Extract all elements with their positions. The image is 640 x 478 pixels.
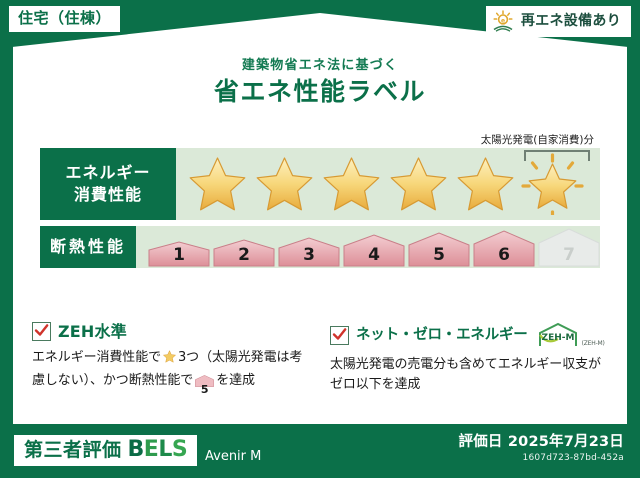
bels-certification-plate: 第三者評価 BELS bbox=[14, 435, 197, 466]
energy-performance-row: エネルギー 消費性能 bbox=[40, 148, 600, 220]
zeh-m-logo-text: ZEH-M bbox=[541, 333, 574, 343]
grade-number: 6 bbox=[473, 247, 535, 264]
insulation-grades-panel: 1 2 3 bbox=[136, 226, 600, 268]
grade-number: 3 bbox=[278, 247, 340, 264]
grade-badge-1: 1 bbox=[148, 241, 210, 267]
solar-sun-icon: e bbox=[492, 10, 516, 32]
house-type-tag: 住宅（住棟） bbox=[9, 6, 120, 32]
grade-badge-7-inactive: 7 bbox=[538, 228, 600, 267]
criterion-zeh-header: ZEH水準 bbox=[32, 322, 314, 341]
renewable-badge-label: 再エネ設備あり bbox=[521, 14, 621, 28]
checkbox-checked-icon bbox=[330, 326, 349, 345]
building-name: Avenir M bbox=[205, 450, 261, 463]
evaluation-date: 評価日 2025年7月23日 bbox=[459, 435, 624, 451]
criteria-section: ZEH水準 エネルギー消費性能で3つ（太陽光発電は考慮しない）、かつ断熱性能で5… bbox=[32, 322, 612, 395]
svg-text:e: e bbox=[501, 17, 505, 24]
energy-performance-label: エネルギー 消費性能 bbox=[40, 148, 176, 220]
solar-annotation-label: 太陽光発電(自家消費)分 bbox=[481, 135, 594, 146]
grade-number: 7 bbox=[538, 247, 600, 264]
grade-number: 5 bbox=[408, 247, 470, 264]
renewable-equipment-badge: e 再エネ設備あり bbox=[486, 6, 631, 37]
grade-badge-6: 6 bbox=[473, 230, 535, 267]
grade-number-inline: 5 bbox=[195, 384, 214, 395]
insulation-performance-label: 断熱性能 bbox=[40, 226, 136, 268]
insulation-performance-row: 断熱性能 1 bbox=[40, 226, 600, 268]
grade-badge-4: 4 bbox=[343, 234, 405, 267]
star-icon bbox=[385, 153, 452, 215]
star-rating bbox=[176, 153, 586, 215]
grade-badge-3: 3 bbox=[278, 237, 340, 267]
criterion-nze-title: ネット・ゼロ・エネルギー bbox=[356, 328, 528, 343]
energy-label-line1: エネルギー bbox=[65, 162, 150, 184]
star-icon bbox=[452, 153, 519, 215]
energy-label-line2: 消費性能 bbox=[74, 184, 142, 206]
label-title-block: 建築物省エネ法に基づく 省エネ性能ラベル bbox=[0, 58, 640, 106]
solar-annotation-bracket bbox=[524, 150, 590, 161]
star-icon bbox=[318, 153, 385, 215]
criterion-zeh-title: ZEH水準 bbox=[58, 324, 127, 340]
grade-number: 4 bbox=[343, 247, 405, 264]
evaluation-info: 評価日 2025年7月23日 1607d723-87bd-452a bbox=[459, 435, 624, 464]
evaluation-id: 1607d723-87bd-452a bbox=[459, 454, 624, 464]
criterion-nze-header: ネット・ゼロ・エネルギー ZEH-M (ZEH-M) bbox=[330, 322, 612, 348]
checkbox-checked-icon bbox=[32, 322, 51, 341]
title-main: 省エネ性能ラベル bbox=[0, 78, 640, 107]
star-icon bbox=[184, 153, 251, 215]
energy-performance-label: 住宅（住棟） e 再エネ設備あり 建築物省エネ法に基づく 省エネ性能ラベル bbox=[0, 0, 640, 478]
grade-badge-5: 5 bbox=[408, 232, 470, 267]
grade-badge-inline: 5 bbox=[195, 374, 214, 395]
criterion-zeh-body: エネルギー消費性能で3つ（太陽光発電は考慮しない）、かつ断熱性能で5を達成 bbox=[32, 348, 314, 395]
grade-badge-2: 2 bbox=[213, 239, 275, 267]
criterion-net-zero-energy: ネット・ゼロ・エネルギー ZEH-M (ZEH-M) 太陽光発電の売電分も含めて… bbox=[330, 322, 612, 395]
zeh-m-logo-caption: (ZEH-M) bbox=[582, 340, 605, 348]
criterion-zeh: ZEH水準 エネルギー消費性能で3つ（太陽光発電は考慮しない）、かつ断熱性能で5… bbox=[32, 322, 314, 395]
performance-table: エネルギー 消費性能 bbox=[40, 148, 600, 274]
bels-logo-text: BELS bbox=[128, 439, 188, 461]
star-icon-inline bbox=[162, 353, 177, 368]
grade-number: 1 bbox=[148, 247, 210, 264]
criterion-nze-body: 太陽光発電の売電分も含めてエネルギー収支がゼロ以下を達成 bbox=[330, 355, 612, 395]
insulation-grade-scale: 1 2 3 bbox=[136, 228, 600, 267]
star-icon bbox=[251, 153, 318, 215]
bels-jp-label: 第三者評価 bbox=[24, 441, 122, 460]
title-subtitle: 建築物省エネ法に基づく bbox=[0, 58, 640, 74]
criterion-zeh-text-post: を達成 bbox=[216, 373, 255, 388]
zeh-m-logo-icon: ZEH-M (ZEH-M) bbox=[537, 322, 605, 348]
grade-number: 2 bbox=[213, 247, 275, 264]
energy-stars-panel: 太陽光発電(自家消費)分 bbox=[176, 148, 600, 220]
star-icon-solar bbox=[519, 153, 586, 215]
criterion-zeh-text-pre: エネルギー消費性能で bbox=[32, 350, 161, 365]
